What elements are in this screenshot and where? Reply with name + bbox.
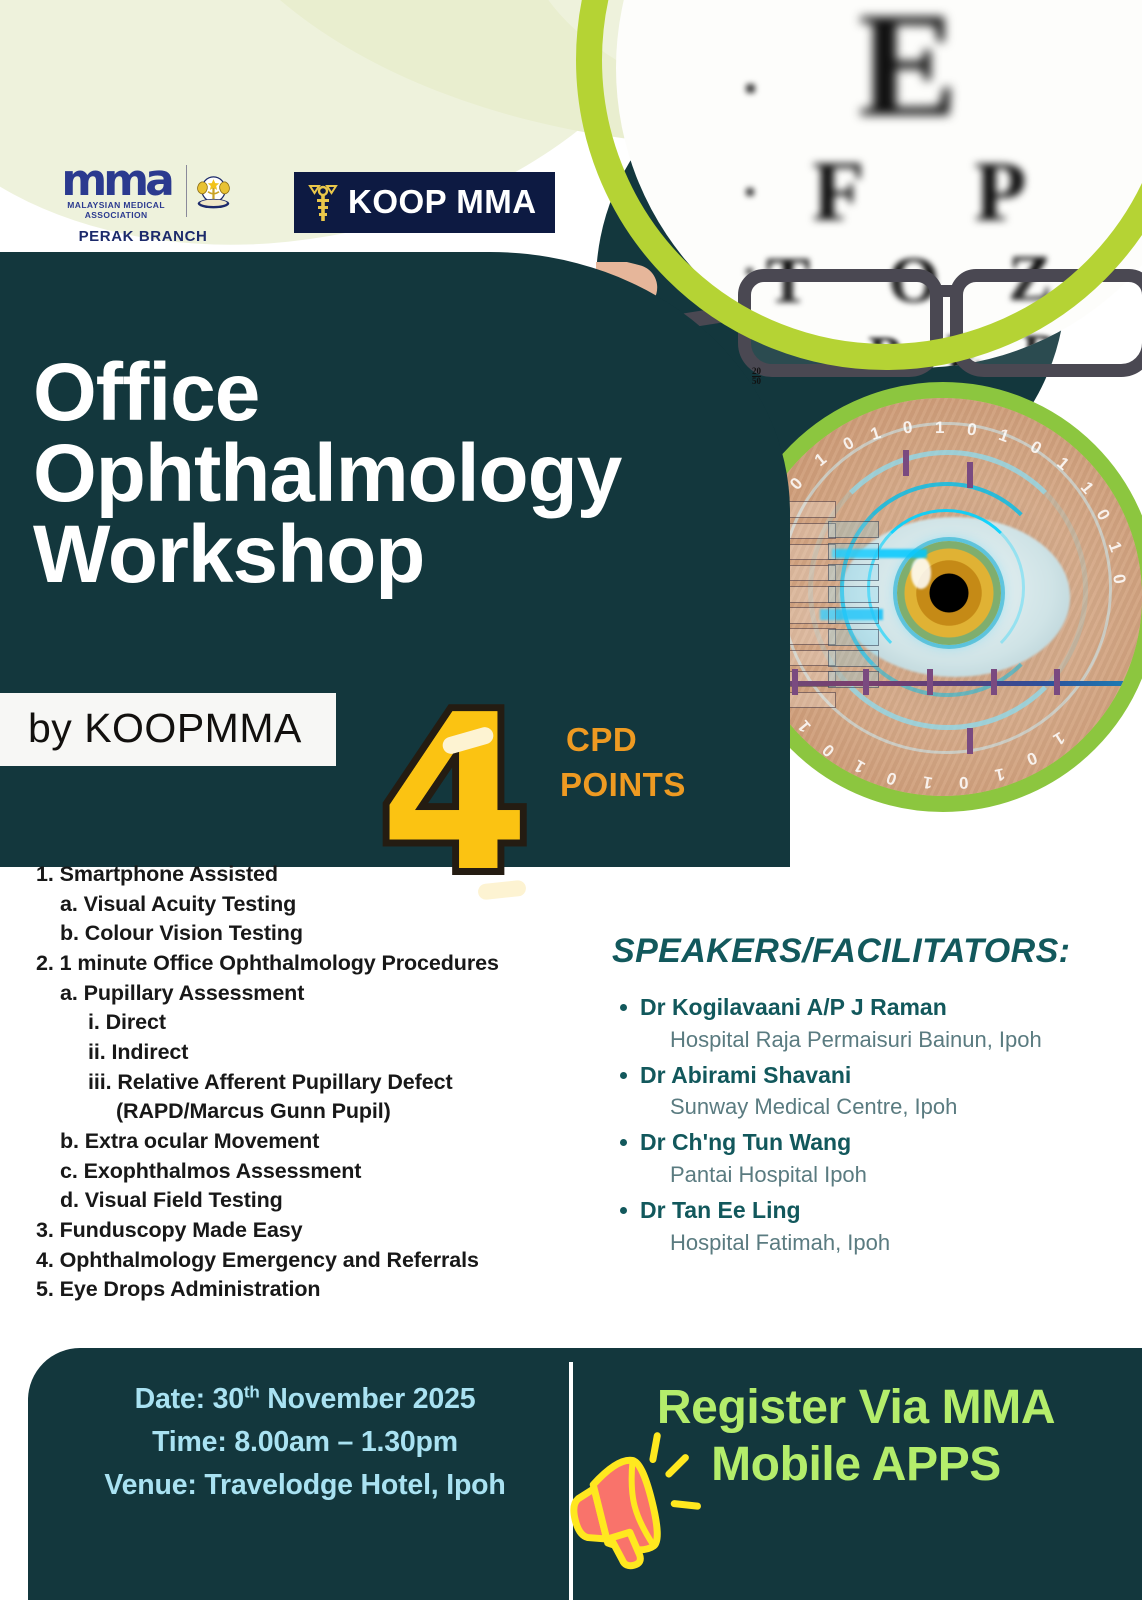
poster-root: E F P T O Z L P E D P E C F D 2050 2040 <box>0 0 1142 1600</box>
koop-mma-wordmark: KOOP MMA <box>348 183 537 221</box>
binary-overlay: 1 0 1 0 1 1 0 1 0 0 1 0 1 0 1 0 1 0 1 0 <box>744 398 1142 796</box>
event-date: Date: 30th November 2025 <box>60 1378 550 1421</box>
topic-item: a. Pupillary Assessment <box>30 979 550 1009</box>
cpd-label-line-2: POINTS <box>560 763 686 808</box>
speaker-organisation: Pantai Hospital Ipoh <box>612 1159 1112 1191</box>
biometric-eye-image: 1 0 1 0 1 1 0 1 0 0 1 0 1 0 1 0 1 0 1 0 <box>728 382 1142 812</box>
organizer-label: by KOOPMMA <box>28 705 302 751</box>
mma-wordmark: mma <box>52 162 180 199</box>
event-details: Date: 30th November 2025 Time: 8.00am – … <box>60 1378 550 1506</box>
poster-title: Office Ophthalmology Workshop <box>33 352 733 596</box>
event-date-day: 30 <box>213 1383 244 1415</box>
topic-item: b. Extra ocular Movement <box>30 1127 550 1157</box>
event-date-rest: November 2025 <box>267 1383 475 1415</box>
title-line-2: Ophthalmology <box>33 433 733 514</box>
speakers-heading: SPEAKERS/FACILITATORS: <box>612 932 1070 971</box>
event-time: Time: 8.00am – 1.30pm <box>60 1421 550 1464</box>
mma-branch-label: PERAK BRANCH <box>52 228 234 245</box>
speaker-item: Dr Kogilavaani A/P J RamanHospital Raja … <box>612 992 1112 1056</box>
caduceus-icon <box>308 182 338 222</box>
logo-bar: mma MALAYSIAN MEDICAL ASSOCIATION PERAK … <box>52 162 555 245</box>
topic-item: 5. Eye Drops Administration <box>30 1275 550 1305</box>
event-venue: Venue: Travelodge Hotel, Ipoh <box>60 1464 550 1507</box>
topic-item: d. Visual Field Testing <box>30 1186 550 1216</box>
megaphone-icon <box>552 1428 712 1578</box>
event-date-ordinal: th <box>244 1383 260 1402</box>
speaker-organisation: Hospital Fatimah, Ipoh <box>612 1227 1112 1259</box>
topic-item: 2. 1 minute Office Ophthalmology Procedu… <box>30 949 550 979</box>
speaker-name: Dr Tan Ee Ling <box>612 1195 1112 1227</box>
topic-item: a. Visual Acuity Testing <box>30 890 550 920</box>
organizer-badge: by KOOPMMA <box>0 693 336 766</box>
topic-item: 4. Ophthalmology Emergency and Referrals <box>30 1246 550 1276</box>
topic-item: i. Direct <box>30 1008 550 1038</box>
cpd-label: CPD POINTS <box>560 718 686 807</box>
topic-item: c. Exophthalmos Assessment <box>30 1157 550 1187</box>
title-line-3: Workshop <box>33 514 733 595</box>
topic-item: 3. Funduscopy Made Easy <box>30 1216 550 1246</box>
speaker-name: Dr Abirami Shavani <box>612 1060 1112 1092</box>
mma-logo: mma MALAYSIAN MEDICAL ASSOCIATION PERAK … <box>52 162 234 245</box>
topic-item: ii. Indirect <box>30 1038 550 1068</box>
title-line-1: Office <box>33 352 733 433</box>
speaker-name: Dr Kogilavaani A/P J Raman <box>612 992 1112 1024</box>
mma-subtitle: MALAYSIAN MEDICAL ASSOCIATION <box>52 200 180 220</box>
topics-list: 1. Smartphone Assisteda. Visual Acuity T… <box>30 860 550 1305</box>
speaker-item: Dr Tan Ee LingHospital Fatimah, Ipoh <box>612 1195 1112 1259</box>
logo-divider <box>186 165 187 217</box>
koop-mma-logo: KOOP MMA <box>294 172 555 233</box>
speaker-organisation: Sunway Medical Centre, Ipoh <box>612 1091 1112 1123</box>
speaker-organisation: Hospital Raja Permaisuri Bainun, Ipoh <box>612 1024 1112 1056</box>
cpd-label-line-1: CPD <box>560 718 686 763</box>
speaker-item: Dr Abirami ShavaniSunway Medical Centre,… <box>612 1060 1112 1124</box>
topic-item: b. Colour Vision Testing <box>30 919 550 949</box>
speaker-name: Dr Ch'ng Tun Wang <box>612 1127 1112 1159</box>
event-date-label: Date: <box>135 1383 205 1415</box>
topic-item: (RAPD/Marcus Gunn Pupil) <box>30 1097 550 1127</box>
topic-item: 1. Smartphone Assisted <box>30 860 550 890</box>
malaysia-crest-icon <box>193 165 234 217</box>
speakers-list: Dr Kogilavaani A/P J RamanHospital Raja … <box>612 992 1112 1263</box>
topic-item: iii. Relative Afferent Pupillary Defect <box>30 1068 550 1098</box>
speaker-item: Dr Ch'ng Tun WangPantai Hospital Ipoh <box>612 1127 1112 1191</box>
